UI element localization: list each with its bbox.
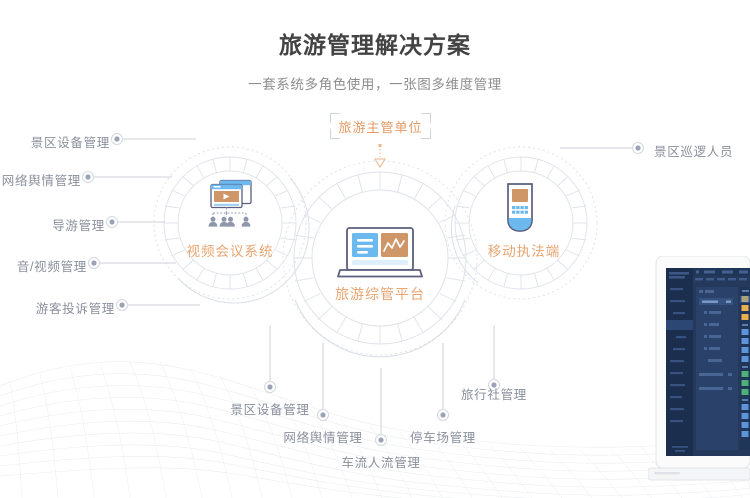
laptop-device [648,256,750,498]
bottom-label-0[interactable]: 景区设备管理 [192,399,348,418]
left-label-4[interactable]: 游客投诉管理 [0,298,115,317]
right-connector-dots [633,143,644,154]
left-label-3[interactable]: 音/视频管理 [0,256,87,275]
left-label-0[interactable]: 景区设备管理 [0,132,110,151]
node-label-mobile: 移动执法端 [468,240,580,260]
authority-badge-label: 旅游主管单位 [338,117,422,136]
bottom-label-4[interactable]: 旅行社管理 [416,384,572,403]
authority-badge[interactable]: 旅游主管单位 [330,113,431,139]
video-conference-icon[interactable] [203,176,259,232]
header: 旅游管理解决方案 一套系统多角色使用，一张图多维度管理 [0,0,750,93]
badge-corner-top-left [330,113,340,123]
node-label-center: 旅游综管平台 [324,284,436,304]
mobile-enforcement-icon[interactable] [497,180,543,236]
background-wave-mesh [0,338,750,498]
badge-corner-bottom-left [330,129,340,139]
bottom-label-3[interactable]: 停车场管理 [365,427,521,446]
page-title: 旅游管理解决方案 [0,0,750,60]
infographic-stage: 旅游管理解决方案 一套系统多角色使用，一张图多维度管理 [0,0,750,498]
node-label-video: 视频会议系统 [171,240,289,260]
left-label-2[interactable]: 导游管理 [0,215,105,234]
badge-arrow-down-icon [375,144,385,167]
bottom-connectors [270,325,494,435]
badge-corner-bottom-right [421,129,431,139]
left-connectors [91,139,200,305]
page-subtitle: 一套系统多角色使用，一张图多维度管理 [0,60,750,93]
laptop-dashboard-icon[interactable] [334,226,426,282]
badge-corner-top-right [421,113,431,123]
bottom-label-2[interactable]: 车流人流管理 [303,452,459,471]
left-label-1[interactable]: 网络舆情管理 [0,170,81,189]
right-label-0[interactable]: 景区巡逻人员 [654,141,733,160]
